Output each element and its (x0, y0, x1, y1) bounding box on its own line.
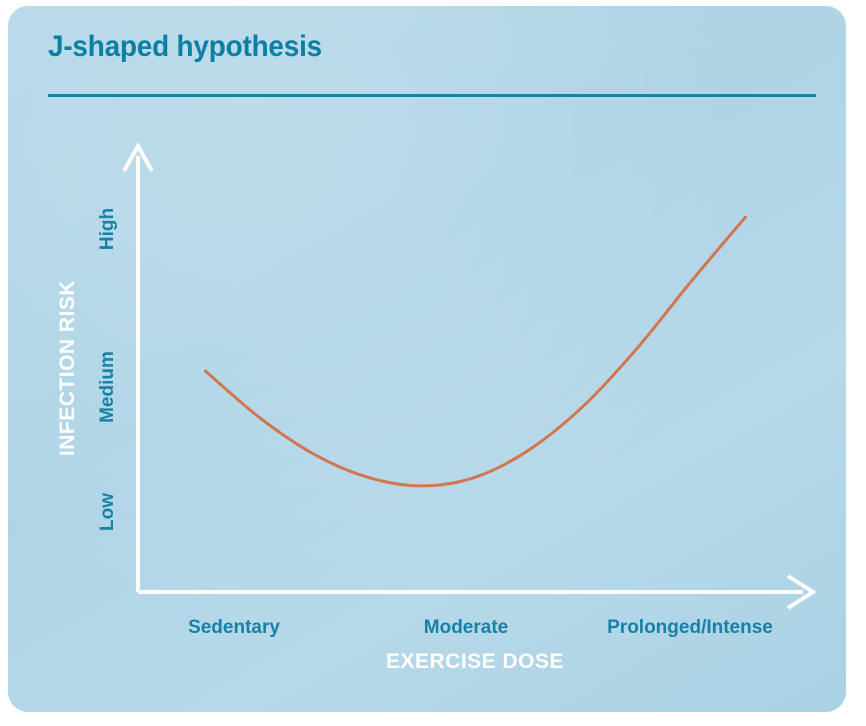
chart-root: J-shaped hypothesis INFECTION RISK High (0, 0, 866, 726)
data-curve-j-shape (206, 217, 746, 486)
plot-area: INFECTION RISK High Medium Low Sedentary… (8, 6, 846, 712)
chart-svg (8, 6, 846, 712)
x-tick-label-prolonged-intense: Prolonged/Intense (607, 617, 773, 639)
chart-card: J-shaped hypothesis INFECTION RISK High (8, 6, 846, 712)
y-tick-label-low: Low (97, 472, 119, 552)
x-axis (138, 576, 813, 608)
x-axis-title: EXERCISE DOSE (386, 650, 564, 674)
y-tick-label-high: High (97, 189, 119, 269)
x-tick-label-sedentary: Sedentary (188, 617, 280, 639)
y-tick-label-medium: Medium (97, 342, 119, 432)
y-axis-title: INFECTION RISK (56, 248, 80, 488)
y-axis (124, 146, 152, 592)
x-tick-label-moderate: Moderate (424, 617, 508, 639)
